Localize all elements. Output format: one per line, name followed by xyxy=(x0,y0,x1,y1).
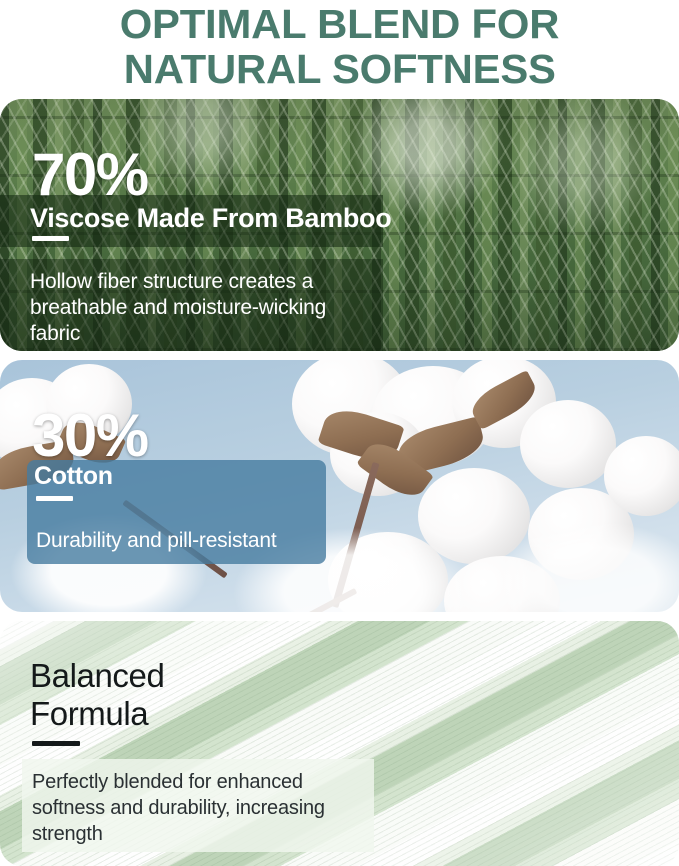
bamboo-material-label: Viscose Made From Bamboo xyxy=(30,205,391,232)
page-title-line-1: OPTIMAL BLEND FOR xyxy=(120,2,560,47)
bamboo-divider-dash xyxy=(32,236,69,241)
blend-title-line-1: Balanced xyxy=(30,657,330,695)
cotton-material-label: Cotton xyxy=(34,464,113,489)
cotton-divider-dash xyxy=(36,496,73,501)
bamboo-description: Hollow fiber structure creates a breatha… xyxy=(30,269,380,347)
blend-divider-dash xyxy=(32,741,80,746)
cotton-description: Durability and pill-resistant xyxy=(36,528,326,554)
blend-title: Balanced Formula xyxy=(30,657,330,733)
blend-title-line-2: Formula xyxy=(30,695,330,733)
blend-description: Perfectly blended for enhanced softness … xyxy=(32,769,372,847)
panel-bamboo: 70% Viscose Made From Bamboo Hollow fibe… xyxy=(0,99,679,351)
cotton-percent: 30% xyxy=(32,406,148,466)
panel-cotton: 30% Cotton Durability and pill-resistant xyxy=(0,360,679,612)
page-title: OPTIMAL BLEND FOR NATURAL SOFTNESS xyxy=(0,0,679,96)
panel-balanced-formula: Balanced Formula Perfectly blended for e… xyxy=(0,621,679,866)
bamboo-percent: 70% xyxy=(32,145,148,205)
page-title-line-2: NATURAL SOFTNESS xyxy=(123,47,555,92)
